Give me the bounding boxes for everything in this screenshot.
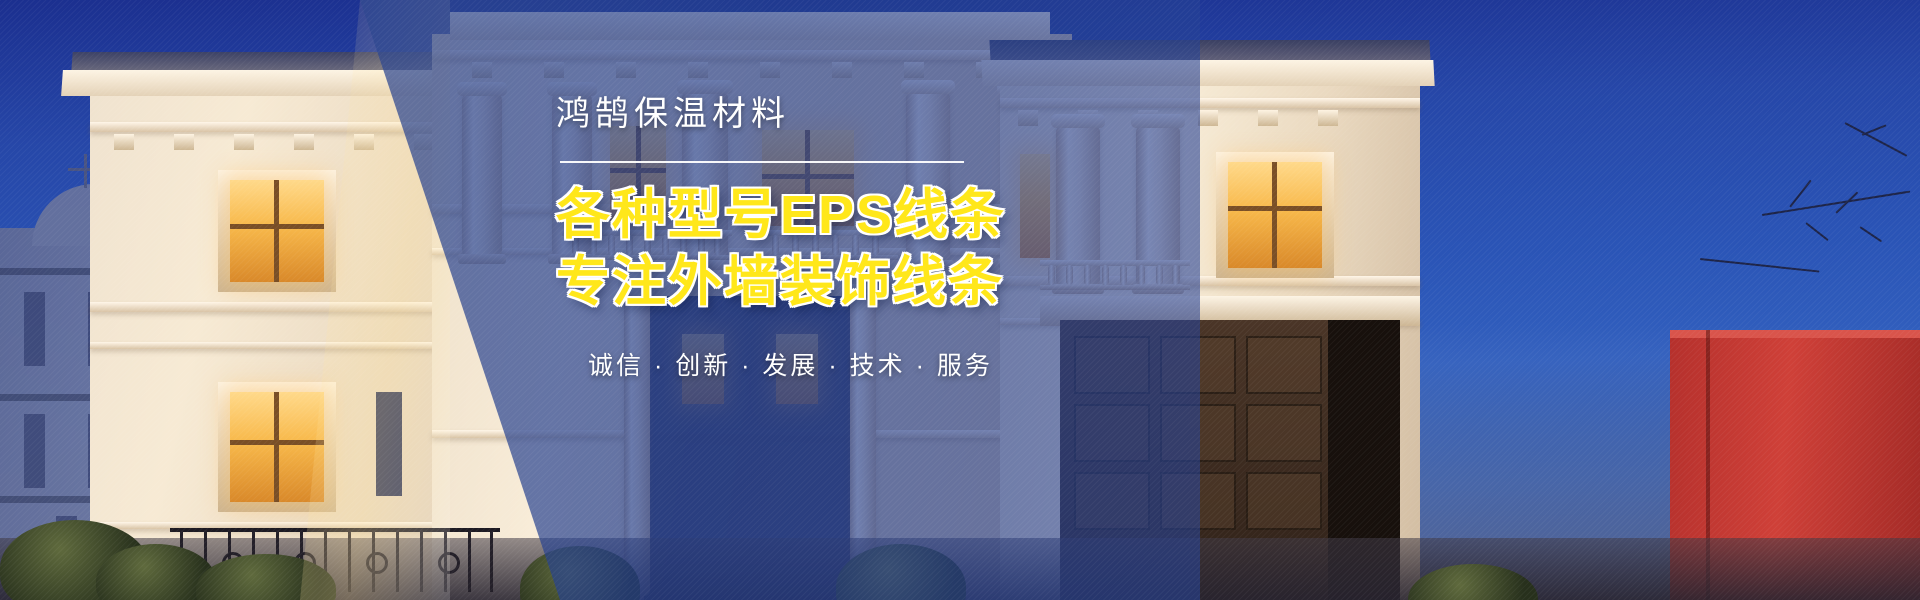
brand-name: 鸿鹄保温材料: [556, 96, 1026, 133]
promo-banner: 鸿鹄保温材料 各种型号EPS线条 专注外墙装饰线条 诚信 · 创新 · 发展 ·…: [0, 0, 1920, 600]
banner-copy: 鸿鹄保温材料 各种型号EPS线条 专注外墙装饰线条 诚信 · 创新 · 发展 ·…: [556, 96, 1026, 382]
headline-line-2: 专注外墙装饰线条: [556, 252, 1026, 312]
divider-rule: [560, 161, 964, 163]
tagline: 诚信 · 创新 · 发展 · 技术 · 服务: [588, 346, 1026, 382]
headline-line-1: 各种型号EPS线条: [556, 185, 1026, 245]
